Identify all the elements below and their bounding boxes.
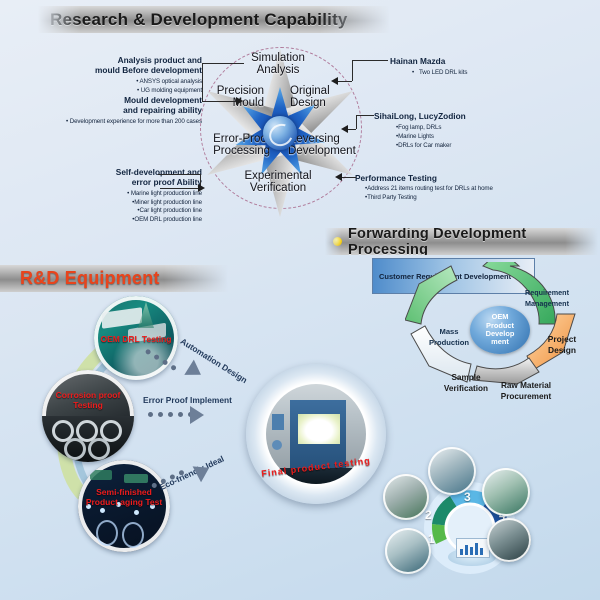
annotation-hainan-mazda: Hainan Mazda • Two LED DRL kits [390,56,590,78]
bullet-text: DRLs for Car maker [398,142,451,149]
bullet-text: Car light production line [139,207,202,214]
bullet-text: Miner light production line [134,199,202,206]
petal-label-experimental-verification: Experimental Verification [224,170,332,194]
mini-photo-1 [383,474,429,520]
yellow-dot-icon [333,237,342,246]
equipment-photo-corrosion-proof-testing [42,370,134,462]
arrow-left-icon [341,125,348,133]
flow-label-error-proof-implement: Error Proof Implement [143,395,232,405]
mini-photo-3 [482,468,530,516]
petal-label-original-design: Original Design [290,85,366,109]
arrow-right-icon [190,406,204,424]
bullet-text: Address 21 items routing test for DRLs a… [367,185,493,192]
equipment-label-corrosion-proof-testing: Corrosion proof Testing [42,390,134,410]
petal-label-reversing-development: Reversing Development [288,133,378,157]
mini-photo-2 [428,447,476,495]
globe-icon [263,116,297,150]
arrow-right-icon [198,184,205,192]
arrow-left-icon [331,77,338,85]
petal-label-simulation-analysis: Simulation Analysis [228,52,328,76]
forwarding-header-bar: Forwarding Development Processing [325,228,598,255]
connector-line [342,177,356,178]
cycle-label-project-design: Project Design [532,334,592,357]
bullet-text: Development experience for more than 200… [70,118,202,125]
connector-line [160,188,200,189]
equipment-label-oem-drl-testing: OEM DRL Testing [94,334,178,344]
page-title: Research & Development Capability [50,10,348,30]
connector-line [202,63,244,64]
annotation-performance-testing: Performance Testing •Address 21 items ro… [355,173,585,203]
petal-label-error-proof-processing: Error-Proof Processing [186,133,270,157]
cycle-label-sample-verification: Sample Verification [428,372,504,395]
arrow-right-icon [236,97,243,105]
bullet-text: Marine light production line [131,190,202,197]
annotation-mould-development: Mould development and repairing ability … [62,95,202,127]
mini-photo-5 [385,528,431,574]
connector-line [348,129,356,130]
equipment-photo-final-product-testing [246,364,386,504]
bullet-text: Two LED DRL kits [419,69,467,76]
connector-line [352,60,388,61]
cycle-center-oem-product-development: OEM Product Develop ment [470,306,530,354]
arrow-left-icon [335,173,342,181]
connector-line [356,115,374,116]
bullet-text: Fog lamp, DRLs [398,124,441,131]
rd-equipment-header-bar: R&D Equipment [0,265,228,292]
flow-dots-error-proof [148,412,193,417]
donut-number-3: 3 [464,490,471,504]
forwarding-title: Forwarding Development Processing [348,226,598,258]
bullet-text: Marine Lights [398,133,434,140]
connector-line [352,60,353,81]
bullet-text: UG molding equipment [141,87,202,94]
rd-capability-header-bar: Research & Development Capability [38,6,390,33]
connector-line [158,174,200,175]
connector-line [202,63,203,101]
annotation-sihailong: SihaiLong, LucyZodion •Fog lamp, DRLs •M… [374,111,584,151]
donut-number-2: 2 [425,508,432,522]
connector-line [338,81,352,82]
bullet-text: ANSYS optical analysis [140,78,202,85]
bullet-text: Third Party Testing [367,194,417,201]
connector-line [202,101,238,102]
connector-line [356,115,357,129]
annotation-analysis-product: Analysis product and mould Before develo… [76,55,202,95]
annotation-self-development: Self-development and error proof Ability… [62,167,202,225]
mini-photo-4 [487,518,531,562]
bullet-text: OEM DRL production line [134,216,202,223]
bar-chart-icon [456,538,490,558]
rd-equipment-title: R&D Equipment [20,268,160,289]
cycle-label-requirement-management: Requirement Management [512,288,582,310]
equipment-label-semi-finished-aging-test: Semi-finished Product aging Test [72,487,176,507]
